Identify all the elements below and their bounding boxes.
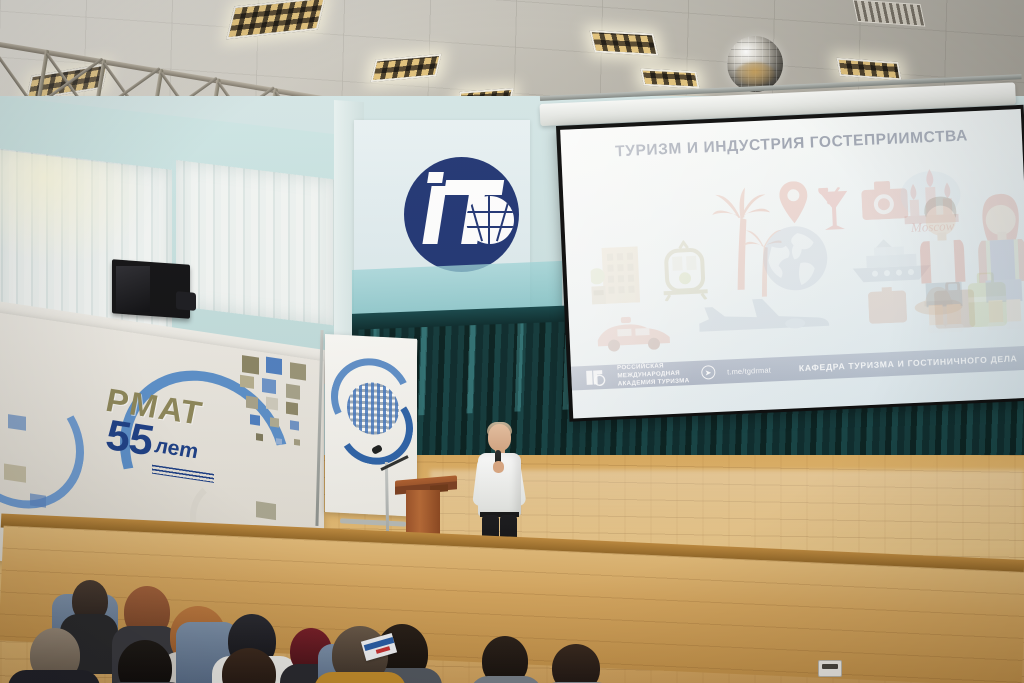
banner-square <box>4 463 26 482</box>
light-louver <box>373 56 439 80</box>
window-blinds <box>176 160 334 325</box>
disco-ball-reflection <box>735 62 775 86</box>
banner-square <box>30 493 46 507</box>
audience-person <box>314 672 406 683</box>
ceiling-light-panel <box>589 30 658 56</box>
audience <box>0 566 700 683</box>
banner-square <box>8 414 26 431</box>
ceiling-light-panel <box>640 68 699 88</box>
banner-square <box>266 357 282 375</box>
banner-square <box>262 378 276 394</box>
light-louver <box>839 60 899 78</box>
presentation-slide: ТУРИЗМ И ИНДУСТРИЯ ГОСТЕПРИИМСТВА <box>560 109 1024 419</box>
banner-square <box>294 439 300 446</box>
light-louver <box>643 71 697 87</box>
logo-letter-i-accent <box>427 172 444 183</box>
conference-hall-photo: ТУРИЗМ И ИНДУСТРИЯ ГОСТЕПРИИМСТВА <box>0 0 1024 683</box>
banner-number: 55 <box>106 415 152 463</box>
banner-square <box>266 397 278 411</box>
window-light-glow <box>0 150 150 278</box>
banner-arc-left <box>0 358 96 527</box>
audience-person <box>470 676 542 683</box>
floor-socket-slot <box>822 664 838 669</box>
banner-square <box>270 417 279 427</box>
banner-square <box>286 402 298 416</box>
banner-years-word: лет <box>155 434 198 469</box>
audience-head <box>552 644 600 683</box>
logo-globe-icon <box>466 196 514 244</box>
projector-screen: ТУРИЗМ И ИНДУСТРИЯ ГОСТЕПРИИМСТВА <box>556 105 1024 422</box>
vent-grille <box>854 1 924 26</box>
banner-square <box>250 414 260 425</box>
monitor-bezel <box>116 266 150 312</box>
equipment-box <box>176 291 196 311</box>
banner-square <box>256 433 263 441</box>
banner-square <box>290 420 299 430</box>
banner-square <box>276 438 282 445</box>
light-louver <box>592 32 656 53</box>
banner-square <box>240 375 254 389</box>
banner-square <box>290 362 306 380</box>
banner-square <box>256 501 276 520</box>
banner-square <box>246 396 258 410</box>
presenter-head <box>488 424 511 451</box>
audience-person <box>8 670 100 683</box>
banner-square <box>286 384 300 400</box>
banner-text-block: РМАТ 55 лет <box>106 381 214 483</box>
banner-square <box>242 355 259 375</box>
presenter-hand <box>493 461 504 473</box>
screen-glare <box>560 109 1024 419</box>
